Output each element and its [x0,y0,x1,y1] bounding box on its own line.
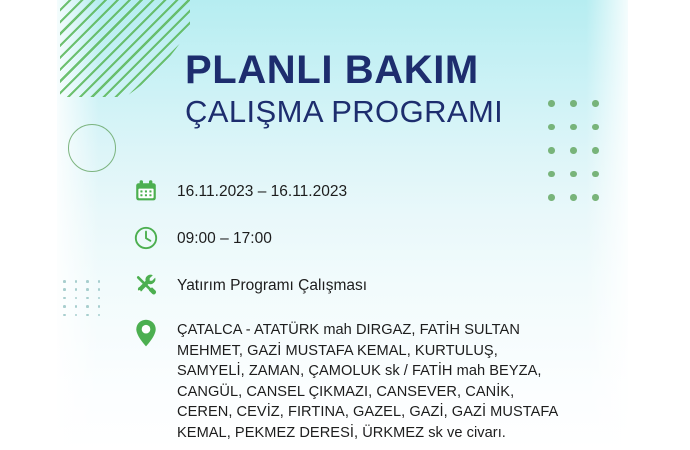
date-range-text: 16.11.2023 – 16.11.2023 [177,178,561,202]
dot [63,305,66,308]
dot [592,194,599,201]
dot [75,305,78,308]
dot [75,297,78,300]
dot [86,280,89,283]
location-text: ÇATALCA - ATATÜRK mah DIRGAZ, FATİH SULT… [177,318,561,443]
info-rows: 16.11.2023 – 16.11.2023 09:00 – 17:00 [131,178,561,443]
dot [548,100,555,107]
dot [98,280,101,283]
dot [548,147,555,154]
dot [592,147,599,154]
poster-title: PLANLI BAKIM [185,48,479,92]
dot [570,100,577,107]
dot [86,305,89,308]
dot [63,288,66,291]
calendar-icon [131,178,161,208]
dot [63,314,66,317]
dot [98,297,101,300]
dot [570,147,577,154]
dot [98,305,101,308]
info-row-work-type: Yatırım Programı Çalışması [131,272,561,302]
dot [75,280,78,283]
dot [98,314,101,317]
time-range-text: 09:00 – 17:00 [177,225,561,249]
dot [592,171,599,178]
work-type-text: Yatırım Programı Çalışması [177,272,561,296]
dot [570,194,577,201]
location-pin-icon [131,318,161,348]
dot [63,297,66,300]
dot [570,171,577,178]
info-row-time: 09:00 – 17:00 [131,225,561,255]
diagonal-stripes-shape [60,0,190,97]
info-row-date: 16.11.2023 – 16.11.2023 [131,178,561,208]
dot [548,124,555,131]
dot [98,288,101,291]
planned-maintenance-poster: PLANLI BAKIM ÇALIŞMA PROGRAMI [0,0,690,450]
dot [63,280,66,283]
info-row-location: ÇATALCA - ATATÜRK mah DIRGAZ, FATİH SULT… [131,318,561,443]
dot [86,314,89,317]
dot-grid-left-decoration [63,280,109,322]
dot [548,171,555,178]
dot [86,288,89,291]
dot [75,288,78,291]
dot [86,297,89,300]
poster-subtitle: ÇALIŞMA PROGRAMI [185,94,503,130]
dot [592,124,599,131]
tools-icon [131,272,161,302]
dot [75,314,78,317]
dot [592,100,599,107]
diagonal-stripes-decoration [60,0,190,97]
clock-icon [131,225,161,255]
circle-outline-decoration [68,124,116,172]
dot [570,124,577,131]
